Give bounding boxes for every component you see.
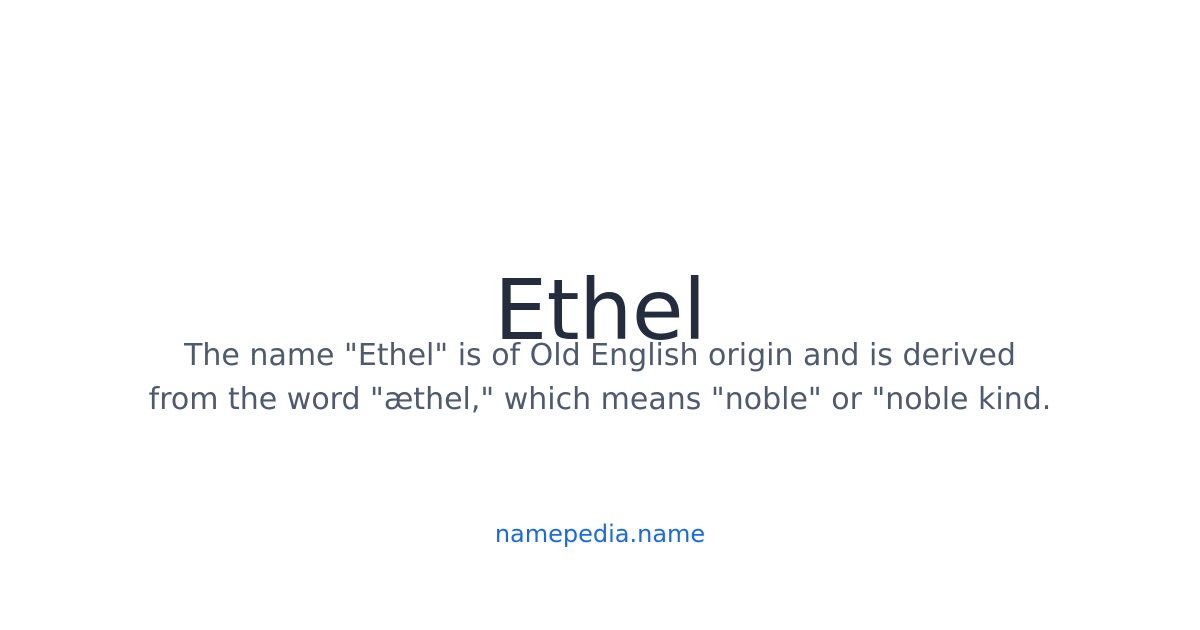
- description-line-2: from the word "æthel," which means "nobl…: [60, 378, 1140, 422]
- description-line-1: The name "Ethel" is of Old English origi…: [60, 334, 1140, 378]
- site-link[interactable]: namepedia.name: [495, 520, 705, 548]
- name-meaning-card: Ethel The name "Ethel" is of Old English…: [0, 0, 1200, 630]
- name-description: The name "Ethel" is of Old English origi…: [0, 334, 1200, 422]
- footer: namepedia.name: [0, 518, 1200, 550]
- page-title: Ethel: [0, 56, 1200, 366]
